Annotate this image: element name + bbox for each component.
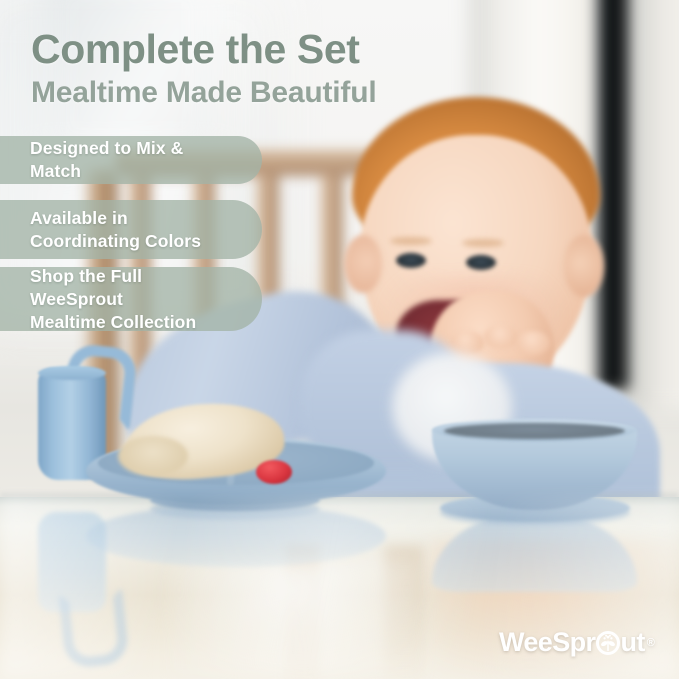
eye-left xyxy=(396,253,426,268)
feature-pill-label: Available in Coordinating Colors xyxy=(30,207,201,253)
feature-pill-coordinating-colors: Available in Coordinating Colors xyxy=(0,200,262,259)
feature-pill-line-2: Mealtime Collection xyxy=(30,312,196,332)
eyebrow-left xyxy=(390,237,432,245)
ear-left xyxy=(344,235,382,293)
food-crumb xyxy=(118,436,188,476)
sprout-icon xyxy=(596,631,620,655)
eyebrow-right xyxy=(462,239,504,247)
feature-pill-label: Designed to Mix & Match xyxy=(30,137,232,183)
page-subtitle: Mealtime Made Beautiful xyxy=(31,76,376,110)
bowl-interior xyxy=(444,423,625,439)
feature-pill-line-1: Shop the Full WeeSprout xyxy=(30,266,142,309)
brand-logo: WeeSpr ut ® xyxy=(499,627,654,658)
knuckle xyxy=(516,331,550,355)
eye-right xyxy=(466,255,496,270)
brand-logo-text-part2: ut xyxy=(620,627,644,658)
registered-trademark-symbol: ® xyxy=(647,637,655,649)
cup-rim xyxy=(38,366,106,380)
ear-right xyxy=(564,235,604,297)
feature-pill-line-1: Available in xyxy=(30,208,128,228)
product-lifestyle-image: Complete the Set Mealtime Made Beautiful… xyxy=(0,0,679,679)
page-title: Complete the Set xyxy=(31,26,360,72)
feature-pill-line-2: Coordinating Colors xyxy=(30,231,201,251)
brand-logo-text-part1: WeeSpr xyxy=(499,627,595,658)
feature-pill-shop-collection: Shop the Full WeeSprout Mealtime Collect… xyxy=(0,267,262,331)
food-raspberry xyxy=(256,460,292,484)
feature-pill-label: Shop the Full WeeSprout Mealtime Collect… xyxy=(30,265,232,334)
feature-pill-mix-and-match: Designed to Mix & Match xyxy=(0,136,262,184)
knuckle xyxy=(484,325,518,349)
